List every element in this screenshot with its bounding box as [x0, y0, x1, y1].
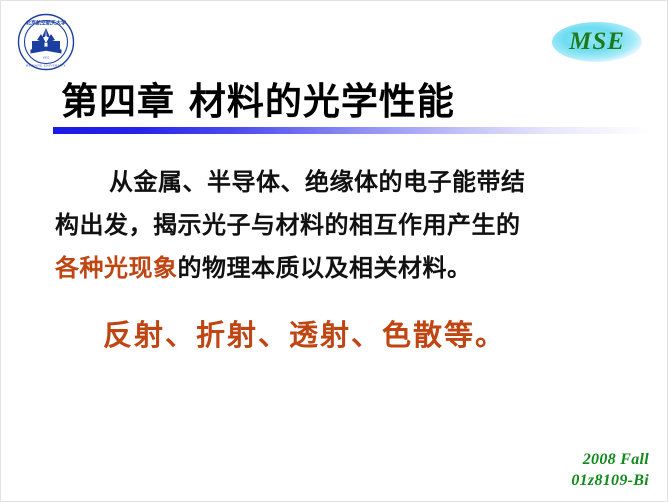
body-line-2: 构出发，揭示光子与材料的相互作用产生的 — [47, 204, 627, 247]
slide-footer: 2008 Fall 01z8109-Bi — [571, 449, 649, 491]
university-seal-icon: 北京航空航天大学 BEIHANG UNIVERSITY 1952 — [17, 13, 75, 71]
mse-badge: MSE — [545, 19, 649, 65]
page-title: 第四章 材料的光学性能 — [53, 79, 653, 125]
body-accent-phrase: 各种光现象 — [55, 254, 178, 282]
footer-course-code: 01z8109-Bi — [571, 470, 649, 491]
mse-badge-label: MSE — [545, 19, 649, 65]
slide-title-block: 第四章 材料的光学性能 — [53, 79, 653, 134]
body-line-1: 从金属、半导体、绝缘体的电子能带结 — [47, 161, 627, 204]
svg-text:BEIHANG UNIVERSITY: BEIHANG UNIVERSITY — [26, 64, 66, 68]
body-paragraph: 从金属、半导体、绝缘体的电子能带结 构出发，揭示光子与材料的相互作用产生的 各种… — [47, 161, 627, 290]
presentation-slide: 北京航空航天大学 BEIHANG UNIVERSITY 1952 — [0, 0, 668, 502]
body-line-3-rest: 的物理本质以及相关材料。 — [178, 254, 472, 282]
body-line-3: 各种光现象的物理本质以及相关材料。 — [47, 247, 627, 290]
footer-term: 2008 Fall — [571, 449, 649, 470]
svg-text:北京航空航天大学: 北京航空航天大学 — [26, 20, 66, 27]
title-gradient-rule — [53, 127, 649, 134]
highlight-statement: 反射、折射、透射、色散等。 — [47, 315, 668, 355]
university-seal-logo: 北京航空航天大学 BEIHANG UNIVERSITY 1952 — [17, 13, 75, 71]
svg-text:1952: 1952 — [43, 56, 50, 60]
